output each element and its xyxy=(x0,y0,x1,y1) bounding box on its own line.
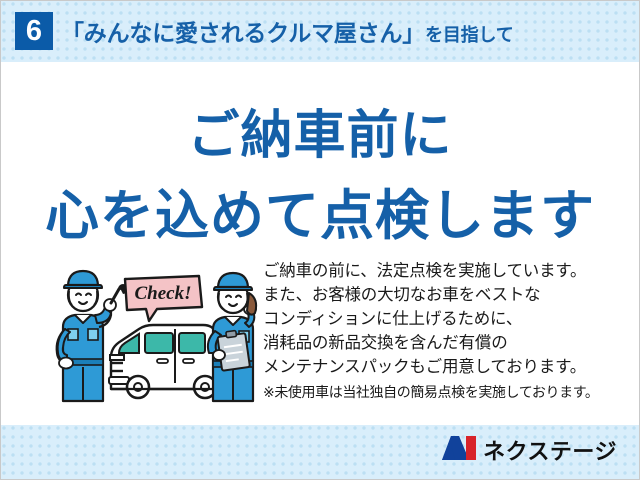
nextage-logo: ネクステージ xyxy=(442,434,617,466)
body-copy-block: ご納車の前に、法定点検を実施しています。 また、お客様の大切なお車をベストな コ… xyxy=(263,259,635,403)
body-line: 消耗品の新品交換を含んだ有償の xyxy=(263,331,635,355)
nextage-logo-text: ネクステージ xyxy=(483,434,617,466)
header-title: 「みんなに愛されるクルマ屋さん」 を目指して xyxy=(61,14,514,50)
check-bubble-text: Check! xyxy=(135,283,192,304)
header-title-sub: を目指して xyxy=(425,21,513,47)
nextage-n-mark-icon xyxy=(442,436,476,465)
mechanics-illustration: Check! xyxy=(53,267,261,403)
body-line: メンテナンスパックもご用意しております。 xyxy=(263,355,635,379)
female-mechanic-figure xyxy=(208,273,256,401)
body-line: コンディションに仕上げるために、 xyxy=(263,307,635,331)
body-footnote: ※未使用車は当社独自の簡易点検を実施しております。 xyxy=(263,381,635,403)
header-title-main: 「みんなに愛されるクルマ屋さん」 xyxy=(61,14,425,48)
section-number-badge: 6 xyxy=(15,12,53,50)
van-illustration xyxy=(109,325,223,398)
check-speech-bubble: Check! xyxy=(125,276,202,321)
body-line: また、お客様の大切なお車をベストな xyxy=(263,283,635,307)
headline-line-2: 心を込めて点検します xyxy=(1,171,639,250)
body-line: ご納車の前に、法定点検を実施しています。 xyxy=(263,259,635,283)
headline-line-1: ご納車前に xyxy=(1,93,639,168)
advertisement-banner: 6 「みんなに愛されるクルマ屋さん」 を目指して ご納車前に 心を込めて点検しま… xyxy=(0,0,640,480)
